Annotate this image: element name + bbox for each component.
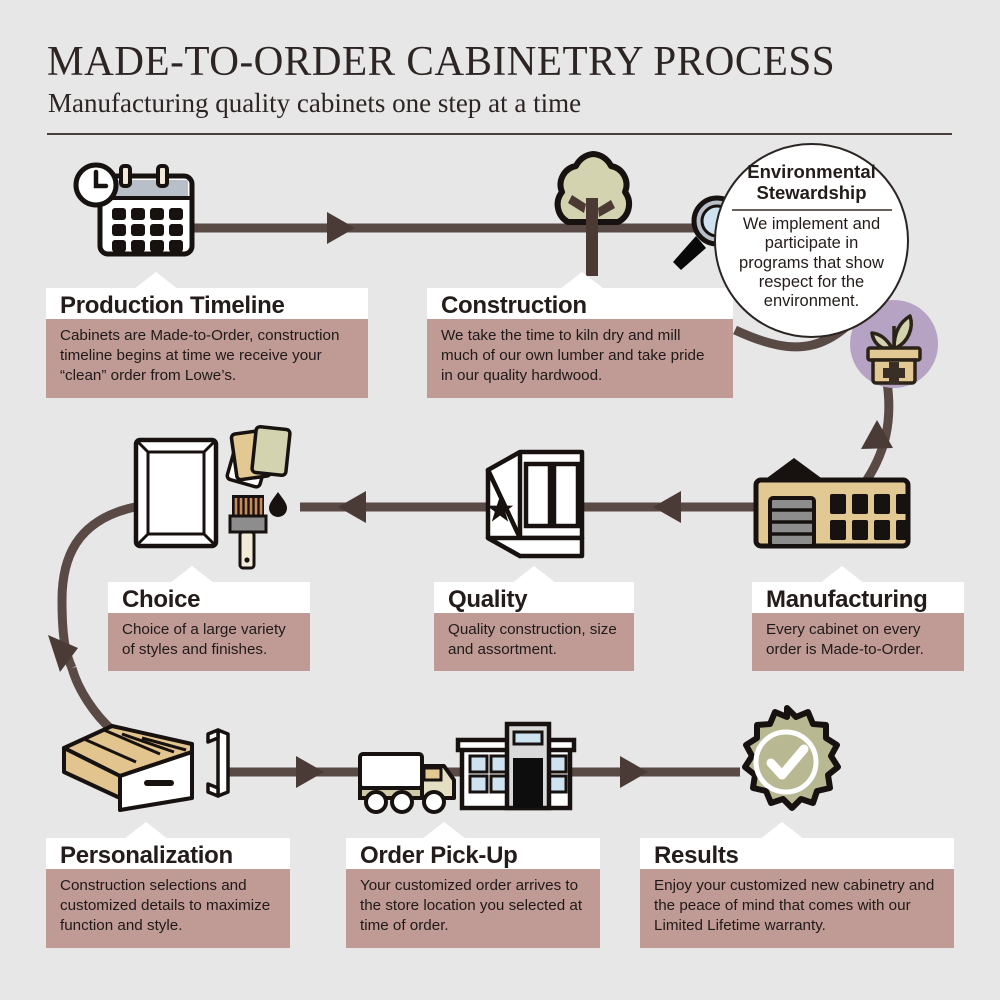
cabinet-icon bbox=[474, 442, 594, 568]
step-body: Your customized order arrives to the sto… bbox=[346, 858, 600, 948]
step-card-quality: Quality Quality construction, size and a… bbox=[434, 582, 634, 671]
step-title: Quality bbox=[434, 582, 634, 613]
callout-title: EnvironmentalStewardship bbox=[716, 145, 907, 203]
cabinet-pull-icon bbox=[208, 730, 228, 796]
step-card-results: Results Enjoy your customized new cabine… bbox=[640, 838, 954, 948]
callout-body: We implement and participate in programs… bbox=[716, 211, 907, 311]
arrowhead-row1 bbox=[327, 212, 355, 244]
step-card-construction: Construction We take the time to kiln dr… bbox=[427, 288, 733, 398]
environmental-stewardship-callout: EnvironmentalStewardship We implement an… bbox=[714, 143, 909, 338]
arrowhead-row3-b bbox=[620, 756, 648, 788]
door-swatches-brush-icon bbox=[128, 422, 306, 580]
step-title: Manufacturing bbox=[752, 582, 964, 613]
step-title: Choice bbox=[108, 582, 310, 613]
factory-icon bbox=[746, 452, 918, 556]
step-body: Enjoy your customized new cabinetry and … bbox=[640, 858, 954, 948]
step-card-choice: Choice Choice of a large variety of styl… bbox=[108, 582, 310, 671]
step-title: Results bbox=[640, 838, 954, 869]
arrowhead-row2-a bbox=[653, 491, 681, 523]
arrowhead-row2-b bbox=[338, 491, 366, 523]
step-body: Cabinets are Made-to-Order, construction… bbox=[46, 308, 368, 398]
step-card-manufacturing: Manufacturing Every cabinet on every ord… bbox=[752, 582, 964, 671]
arrowhead-row3-a bbox=[296, 756, 324, 788]
step-title: Personalization bbox=[46, 838, 290, 869]
tree-icon bbox=[528, 150, 658, 282]
step-card-order-pick-up: Order Pick-Up Your customized order arri… bbox=[346, 838, 600, 948]
step-body: Construction selections and customized d… bbox=[46, 858, 290, 948]
step-title: Production Timeline bbox=[46, 288, 368, 319]
step-card-personalization: Personalization Construction selections … bbox=[46, 838, 290, 948]
drawer-handle-icon bbox=[56, 718, 246, 822]
step-card-production-timeline: Production Timeline Cabinets are Made-to… bbox=[46, 288, 368, 398]
step-body: We take the time to kiln dry and mill mu… bbox=[427, 308, 733, 398]
step-title: Order Pick-Up bbox=[346, 838, 600, 869]
calendar-clock-icon bbox=[58, 158, 208, 278]
step-title: Construction bbox=[427, 288, 733, 319]
check-badge-icon bbox=[724, 702, 850, 822]
truck-store-icon bbox=[352, 716, 578, 822]
